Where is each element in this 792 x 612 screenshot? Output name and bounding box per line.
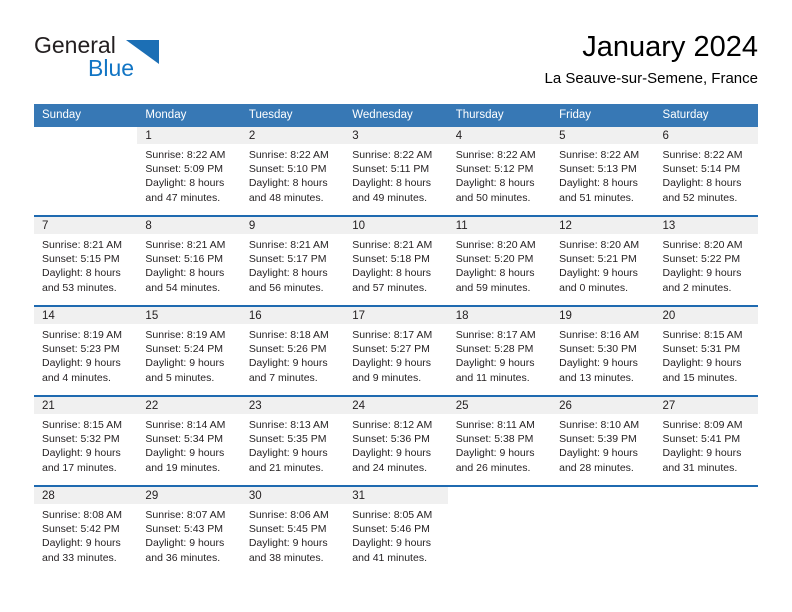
day-number: 11	[448, 217, 551, 234]
sunrise-text: Sunrise: 8:08 AM	[42, 508, 131, 522]
day-details: Sunrise: 8:20 AMSunset: 5:20 PMDaylight:…	[448, 234, 551, 295]
day-number: 1	[137, 127, 240, 144]
day-cell-content: 1Sunrise: 8:22 AMSunset: 5:09 PMDaylight…	[137, 127, 240, 215]
day-number: 26	[551, 397, 654, 414]
sunrise-text: Sunrise: 8:20 AM	[663, 238, 752, 252]
daylight-text-line1: Daylight: 8 hours	[352, 176, 441, 190]
calendar-day-cell[interactable]: 23Sunrise: 8:13 AMSunset: 5:35 PMDayligh…	[241, 396, 344, 486]
day-number	[448, 487, 551, 504]
day-number: 30	[241, 487, 344, 504]
day-cell-content: 24Sunrise: 8:12 AMSunset: 5:36 PMDayligh…	[344, 397, 447, 485]
weekday-header-wednesday: Wednesday	[344, 104, 447, 127]
day-cell-content: 18Sunrise: 8:17 AMSunset: 5:28 PMDayligh…	[448, 307, 551, 395]
day-cell-content: 16Sunrise: 8:18 AMSunset: 5:26 PMDayligh…	[241, 307, 344, 395]
daylight-text-line1: Daylight: 8 hours	[456, 266, 545, 280]
day-number	[551, 487, 654, 504]
day-cell-content: 11Sunrise: 8:20 AMSunset: 5:20 PMDayligh…	[448, 217, 551, 305]
calendar-day-cell[interactable]: 22Sunrise: 8:14 AMSunset: 5:34 PMDayligh…	[137, 396, 240, 486]
day-details: Sunrise: 8:17 AMSunset: 5:27 PMDaylight:…	[344, 324, 447, 385]
daylight-text-line1: Daylight: 8 hours	[559, 176, 648, 190]
day-details: Sunrise: 8:22 AMSunset: 5:13 PMDaylight:…	[551, 144, 654, 205]
calendar-day-cell[interactable]: 24Sunrise: 8:12 AMSunset: 5:36 PMDayligh…	[344, 396, 447, 486]
daylight-text-line2: and 52 minutes.	[663, 191, 752, 205]
day-details: Sunrise: 8:22 AMSunset: 5:11 PMDaylight:…	[344, 144, 447, 205]
sunset-text: Sunset: 5:31 PM	[663, 342, 752, 356]
day-number: 3	[344, 127, 447, 144]
sunrise-text: Sunrise: 8:09 AM	[663, 418, 752, 432]
sunrise-text: Sunrise: 8:11 AM	[456, 418, 545, 432]
day-details: Sunrise: 8:22 AMSunset: 5:10 PMDaylight:…	[241, 144, 344, 205]
sunrise-text: Sunrise: 8:15 AM	[42, 418, 131, 432]
day-cell-content: 25Sunrise: 8:11 AMSunset: 5:38 PMDayligh…	[448, 397, 551, 485]
daylight-text-line1: Daylight: 9 hours	[456, 446, 545, 460]
sunset-text: Sunset: 5:39 PM	[559, 432, 648, 446]
calendar-table: Sunday Monday Tuesday Wednesday Thursday…	[34, 104, 758, 575]
calendar-week-row: 21Sunrise: 8:15 AMSunset: 5:32 PMDayligh…	[34, 396, 758, 486]
day-number: 19	[551, 307, 654, 324]
daylight-text-line2: and 41 minutes.	[352, 551, 441, 565]
calendar-day-cell[interactable]: 26Sunrise: 8:10 AMSunset: 5:39 PMDayligh…	[551, 396, 654, 486]
weekday-header-saturday: Saturday	[655, 104, 758, 127]
day-number: 14	[34, 307, 137, 324]
day-details: Sunrise: 8:20 AMSunset: 5:22 PMDaylight:…	[655, 234, 758, 295]
daylight-text-line1: Daylight: 9 hours	[663, 266, 752, 280]
calendar-day-cell[interactable]: 2Sunrise: 8:22 AMSunset: 5:10 PMDaylight…	[241, 127, 344, 216]
day-number: 31	[344, 487, 447, 504]
daylight-text-line1: Daylight: 9 hours	[42, 446, 131, 460]
day-cell-content: 9Sunrise: 8:21 AMSunset: 5:17 PMDaylight…	[241, 217, 344, 305]
page-subtitle: La Seauve-sur-Semene, France	[545, 70, 758, 88]
calendar-week-row: 1Sunrise: 8:22 AMSunset: 5:09 PMDaylight…	[34, 127, 758, 216]
calendar-day-cell[interactable]: 14Sunrise: 8:19 AMSunset: 5:23 PMDayligh…	[34, 306, 137, 396]
page-title: January 2024	[545, 30, 758, 64]
daylight-text-line1: Daylight: 9 hours	[249, 536, 338, 550]
calendar-day-cell[interactable]: 9Sunrise: 8:21 AMSunset: 5:17 PMDaylight…	[241, 216, 344, 306]
calendar-day-cell[interactable]: 4Sunrise: 8:22 AMSunset: 5:12 PMDaylight…	[448, 127, 551, 216]
calendar-page: General Blue January 2024 La Seauve-sur-…	[0, 0, 792, 612]
weekday-header-sunday: Sunday	[34, 104, 137, 127]
day-cell-content: 12Sunrise: 8:20 AMSunset: 5:21 PMDayligh…	[551, 217, 654, 305]
daylight-text-line1: Daylight: 8 hours	[145, 176, 234, 190]
day-details: Sunrise: 8:12 AMSunset: 5:36 PMDaylight:…	[344, 414, 447, 475]
sunrise-text: Sunrise: 8:22 AM	[456, 148, 545, 162]
sunrise-text: Sunrise: 8:22 AM	[559, 148, 648, 162]
daylight-text-line2: and 21 minutes.	[249, 461, 338, 475]
calendar-day-cell[interactable]: 29Sunrise: 8:07 AMSunset: 5:43 PMDayligh…	[137, 486, 240, 575]
sunset-text: Sunset: 5:21 PM	[559, 252, 648, 266]
calendar-day-cell[interactable]: 6Sunrise: 8:22 AMSunset: 5:14 PMDaylight…	[655, 127, 758, 216]
day-details: Sunrise: 8:21 AMSunset: 5:15 PMDaylight:…	[34, 234, 137, 295]
sunrise-text: Sunrise: 8:12 AM	[352, 418, 441, 432]
sunset-text: Sunset: 5:09 PM	[145, 162, 234, 176]
sunset-text: Sunset: 5:16 PM	[145, 252, 234, 266]
daylight-text-line2: and 51 minutes.	[559, 191, 648, 205]
daylight-text-line1: Daylight: 9 hours	[145, 356, 234, 370]
calendar-header-row: Sunday Monday Tuesday Wednesday Thursday…	[34, 104, 758, 127]
sunrise-text: Sunrise: 8:16 AM	[559, 328, 648, 342]
daylight-text-line1: Daylight: 9 hours	[559, 356, 648, 370]
day-cell-content: 31Sunrise: 8:05 AMSunset: 5:46 PMDayligh…	[344, 487, 447, 575]
day-number: 5	[551, 127, 654, 144]
day-cell-content: 7Sunrise: 8:21 AMSunset: 5:15 PMDaylight…	[34, 217, 137, 305]
day-number: 7	[34, 217, 137, 234]
calendar-day-cell[interactable]: 10Sunrise: 8:21 AMSunset: 5:18 PMDayligh…	[344, 216, 447, 306]
sunset-text: Sunset: 5:10 PM	[249, 162, 338, 176]
daylight-text-line1: Daylight: 9 hours	[42, 356, 131, 370]
day-number: 13	[655, 217, 758, 234]
day-details: Sunrise: 8:17 AMSunset: 5:28 PMDaylight:…	[448, 324, 551, 385]
calendar-day-cell[interactable]: 18Sunrise: 8:17 AMSunset: 5:28 PMDayligh…	[448, 306, 551, 396]
daylight-text-line2: and 50 minutes.	[456, 191, 545, 205]
daylight-text-line2: and 57 minutes.	[352, 281, 441, 295]
daylight-text-line1: Daylight: 9 hours	[249, 356, 338, 370]
day-cell-content: 30Sunrise: 8:06 AMSunset: 5:45 PMDayligh…	[241, 487, 344, 575]
calendar-day-cell[interactable]: 16Sunrise: 8:18 AMSunset: 5:26 PMDayligh…	[241, 306, 344, 396]
daylight-text-line2: and 33 minutes.	[42, 551, 131, 565]
daylight-text-line1: Daylight: 8 hours	[249, 266, 338, 280]
calendar-week-row: 7Sunrise: 8:21 AMSunset: 5:15 PMDaylight…	[34, 216, 758, 306]
sunrise-text: Sunrise: 8:13 AM	[249, 418, 338, 432]
calendar-day-cell[interactable]: 31Sunrise: 8:05 AMSunset: 5:46 PMDayligh…	[344, 486, 447, 575]
daylight-text-line1: Daylight: 9 hours	[559, 446, 648, 460]
daylight-text-line1: Daylight: 9 hours	[663, 446, 752, 460]
day-details: Sunrise: 8:05 AMSunset: 5:46 PMDaylight:…	[344, 504, 447, 565]
calendar-day-cell[interactable]: 1Sunrise: 8:22 AMSunset: 5:09 PMDaylight…	[137, 127, 240, 216]
sunset-text: Sunset: 5:34 PM	[145, 432, 234, 446]
day-cell-content: 23Sunrise: 8:13 AMSunset: 5:35 PMDayligh…	[241, 397, 344, 485]
calendar-week-row: 14Sunrise: 8:19 AMSunset: 5:23 PMDayligh…	[34, 306, 758, 396]
sunset-text: Sunset: 5:42 PM	[42, 522, 131, 536]
day-number: 24	[344, 397, 447, 414]
day-details: Sunrise: 8:22 AMSunset: 5:14 PMDaylight:…	[655, 144, 758, 205]
day-details: Sunrise: 8:08 AMSunset: 5:42 PMDaylight:…	[34, 504, 137, 565]
day-details: Sunrise: 8:14 AMSunset: 5:34 PMDaylight:…	[137, 414, 240, 475]
sunrise-text: Sunrise: 8:15 AM	[663, 328, 752, 342]
sunrise-text: Sunrise: 8:22 AM	[663, 148, 752, 162]
sunrise-text: Sunrise: 8:07 AM	[145, 508, 234, 522]
sunrise-text: Sunrise: 8:21 AM	[249, 238, 338, 252]
sunrise-text: Sunrise: 8:22 AM	[352, 148, 441, 162]
daylight-text-line2: and 47 minutes.	[145, 191, 234, 205]
calendar-day-cell[interactable]: 21Sunrise: 8:15 AMSunset: 5:32 PMDayligh…	[34, 396, 137, 486]
day-details: Sunrise: 8:21 AMSunset: 5:16 PMDaylight:…	[137, 234, 240, 295]
daylight-text-line1: Daylight: 9 hours	[352, 356, 441, 370]
sunset-text: Sunset: 5:35 PM	[249, 432, 338, 446]
day-number: 29	[137, 487, 240, 504]
daylight-text-line2: and 11 minutes.	[456, 371, 545, 385]
sunset-text: Sunset: 5:45 PM	[249, 522, 338, 536]
sunrise-text: Sunrise: 8:21 AM	[42, 238, 131, 252]
day-cell-content: 17Sunrise: 8:17 AMSunset: 5:27 PMDayligh…	[344, 307, 447, 395]
sunrise-text: Sunrise: 8:06 AM	[249, 508, 338, 522]
day-cell-content: 15Sunrise: 8:19 AMSunset: 5:24 PMDayligh…	[137, 307, 240, 395]
daylight-text-line1: Daylight: 8 hours	[456, 176, 545, 190]
daylight-text-line2: and 9 minutes.	[352, 371, 441, 385]
sunset-text: Sunset: 5:15 PM	[42, 252, 131, 266]
day-details: Sunrise: 8:22 AMSunset: 5:12 PMDaylight:…	[448, 144, 551, 205]
brand-name-blue: Blue	[88, 55, 134, 82]
calendar-day-cell-empty	[448, 486, 551, 575]
daylight-text-line1: Daylight: 9 hours	[145, 536, 234, 550]
day-cell-content: 26Sunrise: 8:10 AMSunset: 5:39 PMDayligh…	[551, 397, 654, 485]
day-number: 6	[655, 127, 758, 144]
daylight-text-line1: Daylight: 9 hours	[42, 536, 131, 550]
calendar-day-cell[interactable]: 8Sunrise: 8:21 AMSunset: 5:16 PMDaylight…	[137, 216, 240, 306]
day-number: 22	[137, 397, 240, 414]
daylight-text-line2: and 53 minutes.	[42, 281, 131, 295]
daylight-text-line2: and 31 minutes.	[663, 461, 752, 475]
daylight-text-line1: Daylight: 8 hours	[249, 176, 338, 190]
day-cell-content: 13Sunrise: 8:20 AMSunset: 5:22 PMDayligh…	[655, 217, 758, 305]
calendar-day-cell[interactable]: 12Sunrise: 8:20 AMSunset: 5:21 PMDayligh…	[551, 216, 654, 306]
sunset-text: Sunset: 5:22 PM	[663, 252, 752, 266]
day-cell-content: 14Sunrise: 8:19 AMSunset: 5:23 PMDayligh…	[34, 307, 137, 395]
calendar-day-cell[interactable]: 11Sunrise: 8:20 AMSunset: 5:20 PMDayligh…	[448, 216, 551, 306]
daylight-text-line1: Daylight: 9 hours	[456, 356, 545, 370]
calendar-day-cell[interactable]: 27Sunrise: 8:09 AMSunset: 5:41 PMDayligh…	[655, 396, 758, 486]
day-cell-content: 27Sunrise: 8:09 AMSunset: 5:41 PMDayligh…	[655, 397, 758, 485]
sunset-text: Sunset: 5:36 PM	[352, 432, 441, 446]
day-number: 4	[448, 127, 551, 144]
day-cell-content	[551, 487, 654, 575]
sunrise-text: Sunrise: 8:17 AM	[456, 328, 545, 342]
day-number: 8	[137, 217, 240, 234]
day-cell-content: 22Sunrise: 8:14 AMSunset: 5:34 PMDayligh…	[137, 397, 240, 485]
calendar-day-cell[interactable]: 3Sunrise: 8:22 AMSunset: 5:11 PMDaylight…	[344, 127, 447, 216]
sunrise-text: Sunrise: 8:21 AM	[145, 238, 234, 252]
day-cell-content: 28Sunrise: 8:08 AMSunset: 5:42 PMDayligh…	[34, 487, 137, 575]
calendar-day-cell[interactable]: 13Sunrise: 8:20 AMSunset: 5:22 PMDayligh…	[655, 216, 758, 306]
day-details: Sunrise: 8:13 AMSunset: 5:35 PMDaylight:…	[241, 414, 344, 475]
daylight-text-line1: Daylight: 9 hours	[352, 536, 441, 550]
daylight-text-line2: and 15 minutes.	[663, 371, 752, 385]
day-number: 25	[448, 397, 551, 414]
daylight-text-line1: Daylight: 9 hours	[663, 356, 752, 370]
day-details: Sunrise: 8:15 AMSunset: 5:32 PMDaylight:…	[34, 414, 137, 475]
weekday-header-tuesday: Tuesday	[241, 104, 344, 127]
sunrise-text: Sunrise: 8:22 AM	[249, 148, 338, 162]
sunset-text: Sunset: 5:12 PM	[456, 162, 545, 176]
sunrise-text: Sunrise: 8:22 AM	[145, 148, 234, 162]
daylight-text-line2: and 38 minutes.	[249, 551, 338, 565]
daylight-text-line2: and 56 minutes.	[249, 281, 338, 295]
day-cell-content: 4Sunrise: 8:22 AMSunset: 5:12 PMDaylight…	[448, 127, 551, 215]
daylight-text-line2: and 59 minutes.	[456, 281, 545, 295]
sunset-text: Sunset: 5:43 PM	[145, 522, 234, 536]
daylight-text-line1: Daylight: 9 hours	[145, 446, 234, 460]
day-cell-content: 19Sunrise: 8:16 AMSunset: 5:30 PMDayligh…	[551, 307, 654, 395]
day-number: 16	[241, 307, 344, 324]
day-number: 27	[655, 397, 758, 414]
weekday-header-thursday: Thursday	[448, 104, 551, 127]
day-cell-content: 5Sunrise: 8:22 AMSunset: 5:13 PMDaylight…	[551, 127, 654, 215]
day-cell-content	[448, 487, 551, 575]
daylight-text-line2: and 28 minutes.	[559, 461, 648, 475]
calendar-day-cell[interactable]: 15Sunrise: 8:19 AMSunset: 5:24 PMDayligh…	[137, 306, 240, 396]
sunset-text: Sunset: 5:11 PM	[352, 162, 441, 176]
day-details: Sunrise: 8:10 AMSunset: 5:39 PMDaylight:…	[551, 414, 654, 475]
day-number: 21	[34, 397, 137, 414]
sunset-text: Sunset: 5:27 PM	[352, 342, 441, 356]
day-number	[655, 487, 758, 504]
daylight-text-line2: and 48 minutes.	[249, 191, 338, 205]
daylight-text-line2: and 54 minutes.	[145, 281, 234, 295]
daylight-text-line2: and 49 minutes.	[352, 191, 441, 205]
calendar-day-cell[interactable]: 5Sunrise: 8:22 AMSunset: 5:13 PMDaylight…	[551, 127, 654, 216]
sunset-text: Sunset: 5:14 PM	[663, 162, 752, 176]
day-details: Sunrise: 8:20 AMSunset: 5:21 PMDaylight:…	[551, 234, 654, 295]
daylight-text-line2: and 24 minutes.	[352, 461, 441, 475]
sunset-text: Sunset: 5:26 PM	[249, 342, 338, 356]
day-number: 10	[344, 217, 447, 234]
sunrise-text: Sunrise: 8:19 AM	[42, 328, 131, 342]
day-number: 18	[448, 307, 551, 324]
calendar-week-row: 28Sunrise: 8:08 AMSunset: 5:42 PMDayligh…	[34, 486, 758, 575]
calendar-day-cell-empty	[655, 486, 758, 575]
day-details: Sunrise: 8:19 AMSunset: 5:23 PMDaylight:…	[34, 324, 137, 385]
daylight-text-line2: and 19 minutes.	[145, 461, 234, 475]
day-number: 12	[551, 217, 654, 234]
daylight-text-line1: Daylight: 9 hours	[559, 266, 648, 280]
day-details: Sunrise: 8:22 AMSunset: 5:09 PMDaylight:…	[137, 144, 240, 205]
sunset-text: Sunset: 5:30 PM	[559, 342, 648, 356]
sunset-text: Sunset: 5:17 PM	[249, 252, 338, 266]
day-number: 15	[137, 307, 240, 324]
daylight-text-line2: and 13 minutes.	[559, 371, 648, 385]
day-cell-content	[655, 487, 758, 575]
daylight-text-line1: Daylight: 8 hours	[42, 266, 131, 280]
calendar-day-cell[interactable]: 25Sunrise: 8:11 AMSunset: 5:38 PMDayligh…	[448, 396, 551, 486]
sunset-text: Sunset: 5:13 PM	[559, 162, 648, 176]
brand-logo[interactable]: General Blue	[34, 32, 254, 92]
daylight-text-line1: Daylight: 8 hours	[663, 176, 752, 190]
day-number: 23	[241, 397, 344, 414]
daylight-text-line1: Daylight: 9 hours	[249, 446, 338, 460]
sunrise-text: Sunrise: 8:21 AM	[352, 238, 441, 252]
day-cell-content: 10Sunrise: 8:21 AMSunset: 5:18 PMDayligh…	[344, 217, 447, 305]
day-number: 20	[655, 307, 758, 324]
daylight-text-line2: and 26 minutes.	[456, 461, 545, 475]
day-cell-content: 21Sunrise: 8:15 AMSunset: 5:32 PMDayligh…	[34, 397, 137, 485]
daylight-text-line2: and 0 minutes.	[559, 281, 648, 295]
day-details: Sunrise: 8:21 AMSunset: 5:18 PMDaylight:…	[344, 234, 447, 295]
sunset-text: Sunset: 5:38 PM	[456, 432, 545, 446]
calendar-day-cell[interactable]: 19Sunrise: 8:16 AMSunset: 5:30 PMDayligh…	[551, 306, 654, 396]
day-number: 17	[344, 307, 447, 324]
calendar-day-cell-empty	[34, 127, 137, 216]
weekday-header-friday: Friday	[551, 104, 654, 127]
sunset-text: Sunset: 5:46 PM	[352, 522, 441, 536]
calendar-day-cell[interactable]: 7Sunrise: 8:21 AMSunset: 5:15 PMDaylight…	[34, 216, 137, 306]
day-details: Sunrise: 8:21 AMSunset: 5:17 PMDaylight:…	[241, 234, 344, 295]
day-details: Sunrise: 8:19 AMSunset: 5:24 PMDaylight:…	[137, 324, 240, 385]
calendar-day-cell[interactable]: 28Sunrise: 8:08 AMSunset: 5:42 PMDayligh…	[34, 486, 137, 575]
daylight-text-line2: and 36 minutes.	[145, 551, 234, 565]
sunset-text: Sunset: 5:20 PM	[456, 252, 545, 266]
calendar-day-cell[interactable]: 20Sunrise: 8:15 AMSunset: 5:31 PMDayligh…	[655, 306, 758, 396]
sunrise-text: Sunrise: 8:10 AM	[559, 418, 648, 432]
day-details: Sunrise: 8:06 AMSunset: 5:45 PMDaylight:…	[241, 504, 344, 565]
calendar-body: 1Sunrise: 8:22 AMSunset: 5:09 PMDaylight…	[34, 127, 758, 575]
day-cell-content: 29Sunrise: 8:07 AMSunset: 5:43 PMDayligh…	[137, 487, 240, 575]
day-details: Sunrise: 8:07 AMSunset: 5:43 PMDaylight:…	[137, 504, 240, 565]
sunset-text: Sunset: 5:23 PM	[42, 342, 131, 356]
calendar-day-cell-empty	[551, 486, 654, 575]
calendar-day-cell[interactable]: 17Sunrise: 8:17 AMSunset: 5:27 PMDayligh…	[344, 306, 447, 396]
daylight-text-line2: and 5 minutes.	[145, 371, 234, 385]
sunset-text: Sunset: 5:24 PM	[145, 342, 234, 356]
sunset-text: Sunset: 5:18 PM	[352, 252, 441, 266]
title-block: January 2024 La Seauve-sur-Semene, Franc…	[545, 30, 758, 88]
day-number: 9	[241, 217, 344, 234]
weekday-header-monday: Monday	[137, 104, 240, 127]
day-number	[34, 127, 137, 144]
day-details: Sunrise: 8:11 AMSunset: 5:38 PMDaylight:…	[448, 414, 551, 475]
day-cell-content: 2Sunrise: 8:22 AMSunset: 5:10 PMDaylight…	[241, 127, 344, 215]
calendar-day-cell[interactable]: 30Sunrise: 8:06 AMSunset: 5:45 PMDayligh…	[241, 486, 344, 575]
sunrise-text: Sunrise: 8:20 AM	[559, 238, 648, 252]
daylight-text-line1: Daylight: 9 hours	[352, 446, 441, 460]
day-details: Sunrise: 8:16 AMSunset: 5:30 PMDaylight:…	[551, 324, 654, 385]
sunset-text: Sunset: 5:28 PM	[456, 342, 545, 356]
day-details: Sunrise: 8:18 AMSunset: 5:26 PMDaylight:…	[241, 324, 344, 385]
day-cell-content: 8Sunrise: 8:21 AMSunset: 5:16 PMDaylight…	[137, 217, 240, 305]
page-header: General Blue January 2024 La Seauve-sur-…	[34, 30, 758, 98]
day-cell-content	[34, 127, 137, 215]
sunrise-text: Sunrise: 8:19 AM	[145, 328, 234, 342]
sunrise-text: Sunrise: 8:18 AM	[249, 328, 338, 342]
sunrise-text: Sunrise: 8:14 AM	[145, 418, 234, 432]
day-cell-content: 3Sunrise: 8:22 AMSunset: 5:11 PMDaylight…	[344, 127, 447, 215]
daylight-text-line2: and 4 minutes.	[42, 371, 131, 385]
day-details: Sunrise: 8:15 AMSunset: 5:31 PMDaylight:…	[655, 324, 758, 385]
daylight-text-line2: and 2 minutes.	[663, 281, 752, 295]
day-details: Sunrise: 8:09 AMSunset: 5:41 PMDaylight:…	[655, 414, 758, 475]
daylight-text-line1: Daylight: 8 hours	[145, 266, 234, 280]
sunrise-text: Sunrise: 8:05 AM	[352, 508, 441, 522]
day-cell-content: 6Sunrise: 8:22 AMSunset: 5:14 PMDaylight…	[655, 127, 758, 215]
sunrise-text: Sunrise: 8:20 AM	[456, 238, 545, 252]
day-cell-content: 20Sunrise: 8:15 AMSunset: 5:31 PMDayligh…	[655, 307, 758, 395]
sunrise-text: Sunrise: 8:17 AM	[352, 328, 441, 342]
day-number: 28	[34, 487, 137, 504]
sunset-text: Sunset: 5:41 PM	[663, 432, 752, 446]
daylight-text-line1: Daylight: 8 hours	[352, 266, 441, 280]
day-number: 2	[241, 127, 344, 144]
daylight-text-line2: and 17 minutes.	[42, 461, 131, 475]
daylight-text-line2: and 7 minutes.	[249, 371, 338, 385]
sunset-text: Sunset: 5:32 PM	[42, 432, 131, 446]
